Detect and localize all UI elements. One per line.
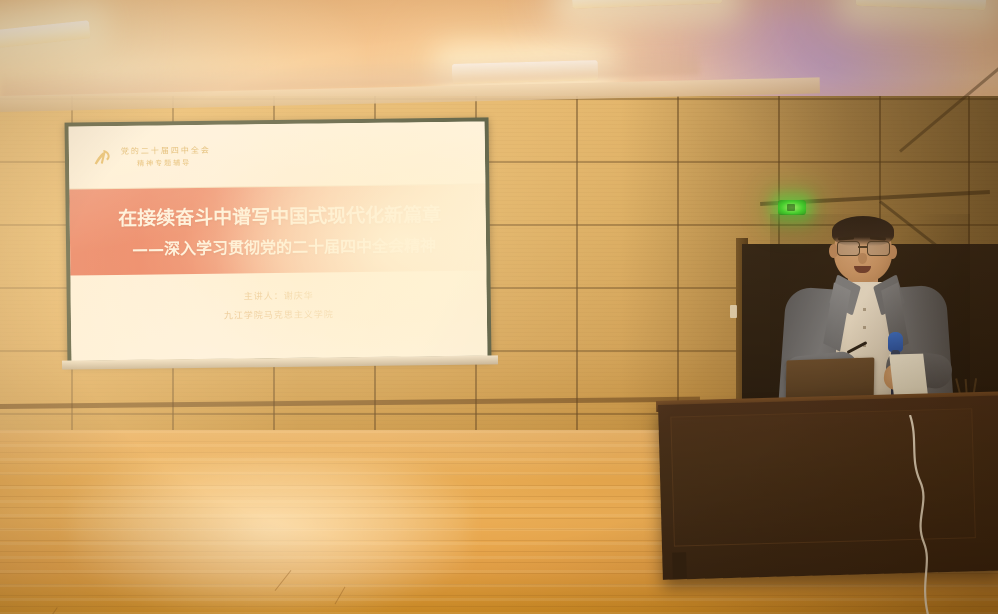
lens-left [837, 241, 860, 256]
podium-foot [672, 552, 687, 578]
projection-screen: 党的二十届四中全会 精神专题辅导 在接续奋斗中谱写中国式现代化新篇章 ——深入学… [69, 121, 488, 360]
slide-title: 在接续奋斗中谱写中国式现代化新篇章 [74, 199, 486, 231]
exit-sign-icon [778, 200, 806, 215]
light-switch[interactable] [730, 305, 737, 318]
lecture-hall-photo: 党的二十届四中全会 精神专题辅导 在接续奋斗中谱写中国式现代化新篇章 ——深入学… [0, 0, 998, 614]
slide-header-line1: 党的二十届四中全会 [121, 144, 211, 156]
slide-title-band: 在接续奋斗中谱写中国式现代化新篇章 ——深入学习贯彻党的二十届四中全会精神 [69, 184, 486, 275]
slide-footer: 主讲人：谢庆华 九江学院马克思主义学院 [70, 270, 487, 360]
microphone-head [888, 332, 903, 352]
slide-affiliation: 九江学院马克思主义学院 [224, 307, 334, 321]
slide-header: 党的二十届四中全会 精神专题辅导 [69, 121, 486, 189]
slide-header-line2: 精神专题辅导 [137, 157, 211, 168]
glasses-bridge [858, 246, 868, 248]
slide-presenter: 主讲人：谢庆华 [244, 289, 314, 303]
floor-light-reflection [70, 458, 470, 614]
lens-right [867, 241, 890, 256]
projection-screen-frame: 党的二十届四中全会 精神专题辅导 在接续奋斗中谱写中国式现代化新篇章 ——深入学… [65, 117, 492, 364]
slide-header-text: 党的二十届四中全会 精神专题辅导 [121, 144, 211, 168]
slide-subtitle: ——深入学习贯彻党的二十届四中全会精神 [82, 231, 486, 260]
presentation-slide: 党的二十届四中全会 精神专题辅导 在接续奋斗中谱写中国式现代化新篇章 ——深入学… [69, 121, 488, 360]
ccp-emblem-hammer-sickle-icon [91, 146, 113, 168]
nose [858, 253, 867, 264]
hanging-cable [908, 415, 911, 614]
